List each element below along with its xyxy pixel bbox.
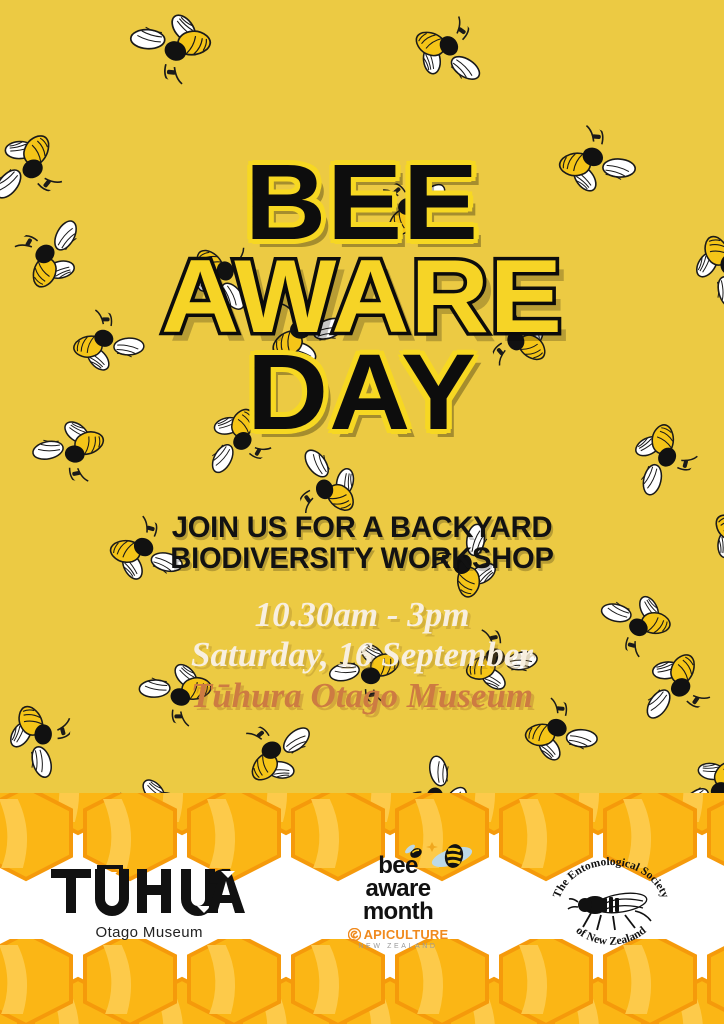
bee-decoration <box>286 426 382 529</box>
apiculture-nz-sponsor: APICULTURE NEW ZEALAND <box>348 927 449 950</box>
bee-decoration <box>673 225 724 320</box>
svg-text:The Entomological Society: The Entomological Society <box>551 855 671 899</box>
bee-decoration <box>169 232 263 333</box>
bee-decoration <box>122 632 229 733</box>
bee-illustration-icon <box>88 505 203 616</box>
bee-illustration-icon <box>230 708 336 800</box>
tuhura-logo-subtitle: Otago Museum <box>96 924 203 941</box>
tuhura-wordmark-icon <box>49 865 249 917</box>
bee-decoration <box>56 303 161 402</box>
bee-decoration <box>596 400 708 515</box>
bee-decoration <box>316 618 412 706</box>
bee-illustration-icon <box>1 199 116 312</box>
apiculture-region-label: NEW ZEALAND <box>358 943 437 950</box>
bee-decoration <box>19 395 117 485</box>
bee-decoration <box>264 302 355 383</box>
bee-illustration-icon <box>174 385 284 493</box>
svg-text:of New Zealand: of New Zealand <box>573 924 648 948</box>
bee-illustration-icon <box>57 303 160 398</box>
bee-illustration-icon <box>390 2 501 117</box>
bee-decoration <box>474 276 573 381</box>
bee-decoration <box>404 742 492 800</box>
bee-decoration <box>1 199 119 316</box>
bee-illustration-icon <box>422 505 530 618</box>
bee-illustration-icon <box>173 232 263 332</box>
bee-illustration-icon <box>264 302 355 378</box>
ento-arc-bottom-text: of New Zealand <box>573 924 648 948</box>
bee-decoration <box>111 0 234 93</box>
bee-decoration <box>686 493 724 603</box>
bee-illustration-icon <box>286 427 378 529</box>
bee-illustration-icon <box>111 0 232 93</box>
bee-decoration <box>230 708 337 800</box>
bee-illustration-icon <box>657 737 724 800</box>
logo-entomological-society-nz: The Entomological Society of New Zealand <box>547 851 675 955</box>
logo-bee-aware-month: bee aware month APICULTURE NEW ZEALAND <box>348 855 449 949</box>
bee-decoration <box>656 733 724 800</box>
bee-illustration-icon <box>474 278 569 381</box>
bee-illustration-icon <box>540 117 655 224</box>
bee-illustration-icon <box>0 696 73 790</box>
ento-arc-top-text: The Entomological Society <box>551 855 671 899</box>
logo-tuhura-otago-museum: Otago Museum TŪHUʀA <box>49 865 249 941</box>
bee-decoration <box>538 117 655 229</box>
poster-root: BEE AWARE DAY JOIN US FOR A BACKYARD BIO… <box>0 0 724 1024</box>
sponsor-logo-row: Otago Museum TŪHUʀA bee aware <box>0 845 724 960</box>
bee-illustration-icon <box>404 742 488 800</box>
entomological-society-emblem-icon: The Entomological Society of New Zealand <box>547 851 675 955</box>
bee-decoration <box>422 505 534 621</box>
bee-illustration-icon <box>678 226 724 320</box>
bee-illustration-icon <box>600 403 709 515</box>
bee-decoration <box>172 382 285 494</box>
bee-pattern-background <box>0 0 724 800</box>
apiculture-label: APICULTURE <box>364 927 449 942</box>
bee-decoration <box>0 695 73 790</box>
bee-decoration <box>85 505 202 620</box>
bee-illustration-icon <box>368 165 471 260</box>
bee-illustration-icon <box>316 623 411 707</box>
bee-illustration-icon <box>122 636 228 733</box>
bee-decoration <box>712 0 724 95</box>
bee-decoration <box>387 2 502 119</box>
bee-aware-month-bee-icon <box>370 839 490 873</box>
bam-line-3: month <box>363 901 433 924</box>
bee-illustration-icon <box>712 0 724 95</box>
bee-illustration-icon <box>690 493 724 601</box>
bee-illustration-icon <box>19 400 117 486</box>
bee-decoration <box>368 165 473 264</box>
apiculture-swirl-icon <box>348 928 361 941</box>
